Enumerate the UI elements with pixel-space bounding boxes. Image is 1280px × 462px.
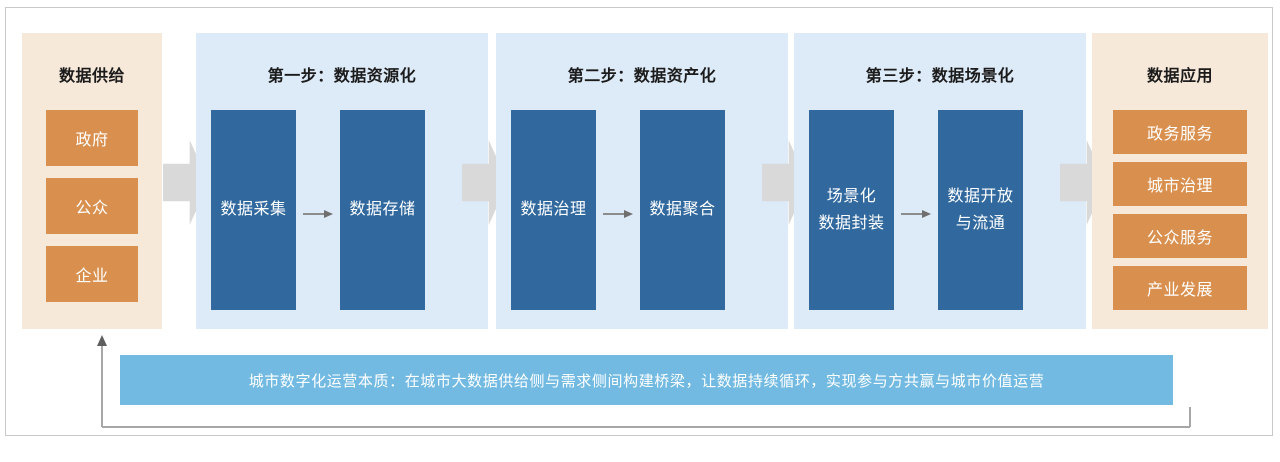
panel-title-step-3: 第三步：数据场景化: [794, 62, 1086, 86]
step-1-box-1[interactable]: 数据采集: [211, 110, 296, 310]
step-1-box-2-line-1: 数据存储: [349, 196, 415, 223]
step-2-box-1-line-1: 数据治理: [520, 196, 586, 223]
step-2-box-2-line-1: 数据聚合: [649, 196, 715, 223]
panel-title-step-1: 第一步：数据资源化: [196, 62, 488, 86]
step-3-box-1[interactable]: 场景化 数据封装: [809, 110, 894, 310]
feedback-loop-arrowhead-icon: [97, 335, 107, 346]
step-2-box-1[interactable]: 数据治理: [511, 110, 596, 310]
diagram-canvas: 数据供给 政府 公众 企业 第一步：数据资源化 数据采集 数据存储 第二步：数据…: [0, 0, 1280, 462]
bottom-summary-banner: 城市数字化运营本质：在城市大数据供给侧与需求侧间构建桥梁，让数据持续循环，实现参…: [120, 355, 1173, 405]
supply-item-public[interactable]: 公众: [46, 178, 138, 234]
apply-item-urban-governance[interactable]: 城市治理: [1113, 162, 1247, 206]
panel-title-step-2: 第二步：数据资产化: [496, 62, 788, 86]
step-3-box-1-line-2: 数据封装: [818, 210, 884, 237]
step-1-box-2[interactable]: 数据存储: [340, 110, 425, 310]
step-1-box-1-line-1: 数据采集: [220, 196, 286, 223]
mini-arrow-icon-3: [901, 210, 931, 219]
step-3-box-2[interactable]: 数据开放 与流通: [938, 110, 1023, 310]
apply-item-industry-development[interactable]: 产业发展: [1113, 266, 1247, 310]
feedback-loop-horizontal-line: [102, 426, 1190, 428]
apply-item-government-services[interactable]: 政务服务: [1113, 110, 1247, 154]
mini-arrow-icon-2: [603, 210, 633, 219]
step-2-box-2[interactable]: 数据聚合: [640, 110, 725, 310]
mini-arrow-icon-1: [303, 210, 333, 219]
apply-item-public-services[interactable]: 公众服务: [1113, 214, 1247, 258]
step-3-box-2-line-2: 与流通: [956, 210, 1006, 237]
step-3-box-1-line-1: 场景化: [827, 183, 877, 210]
panel-title-data-supply: 数据供给: [22, 62, 162, 86]
step-3-box-2-line-1: 数据开放: [947, 183, 1013, 210]
feedback-loop-vertical-line: [101, 345, 103, 427]
supply-item-government[interactable]: 政府: [46, 110, 138, 166]
supply-item-enterprise[interactable]: 企业: [46, 246, 138, 302]
panel-title-data-application: 数据应用: [1092, 62, 1268, 86]
feedback-loop-right-riser: [1189, 407, 1191, 427]
